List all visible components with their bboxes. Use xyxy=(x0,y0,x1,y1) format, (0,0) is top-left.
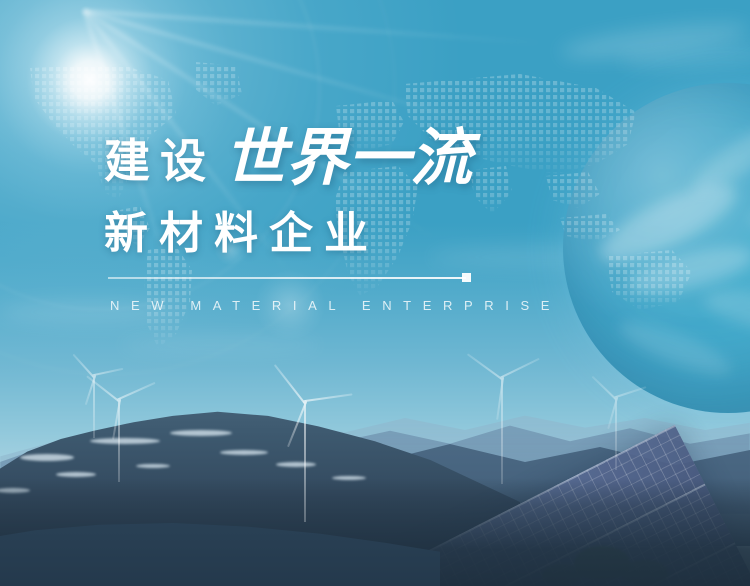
divider-end-square xyxy=(462,273,471,282)
headline-block: 建设 世界一流 新材料企业 NEW MATERIAL ENTERPRISE xyxy=(0,0,750,586)
divider-line xyxy=(108,277,466,279)
promotional-banner: 建设 世界一流 新材料企业 NEW MATERIAL ENTERPRISE xyxy=(0,0,750,586)
headline-emphasis: 世界一流 xyxy=(224,128,472,190)
subtitle-text: NEW MATERIAL ENTERPRISE xyxy=(110,298,561,313)
headline-line-1: 建设 世界一流 xyxy=(104,128,472,190)
headline-line-2: 新材料企业 xyxy=(104,212,379,256)
headline-prefix: 建设 xyxy=(104,138,216,190)
